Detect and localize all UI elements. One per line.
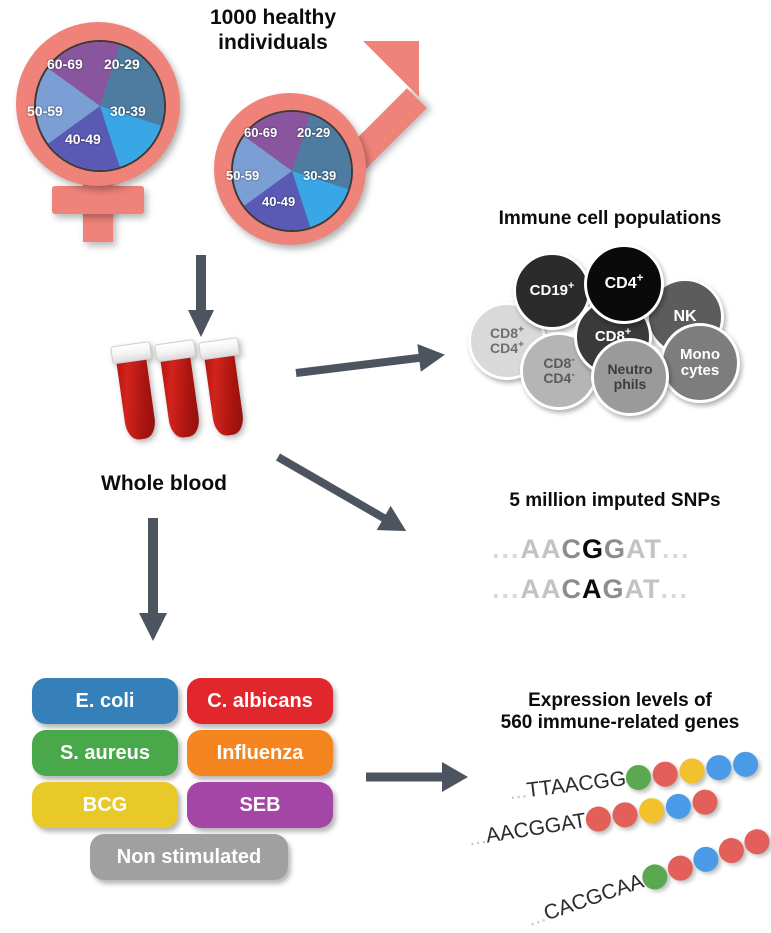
stimulation-chip-bcg[interactable]: BCG <box>32 782 178 828</box>
expression-title-line1: Expression levels of <box>470 690 770 712</box>
blood-tube <box>158 340 200 429</box>
snp-ellipsis-left: ... <box>492 574 521 604</box>
pie-label-50-59: 50-59 <box>27 103 63 119</box>
pie-label-20-29: 20-29 <box>104 56 140 72</box>
strand-bead <box>624 764 652 792</box>
cohort-title-line1: 1000 healthy <box>178 6 368 31</box>
snp-variant-allele: A <box>582 574 603 604</box>
strand-bead <box>690 843 722 875</box>
snp-ellipsis-right: ... <box>661 574 690 604</box>
pie-label-60-69: 60-69 <box>47 56 83 72</box>
pie-label-20-29: 20-29 <box>297 125 330 140</box>
snps-title: 5 million imputed SNPs <box>470 490 760 512</box>
expression-title-line2: 560 immune-related genes <box>470 712 770 734</box>
pie-label-50-59: 50-59 <box>226 168 259 183</box>
pie-label-40-49: 40-49 <box>65 131 101 147</box>
male-symbol: 20-29 30-39 40-49 50-59 60-69 <box>200 38 430 248</box>
whole-blood-label: Whole blood <box>84 472 244 497</box>
chip-label: Non stimulated <box>117 846 261 869</box>
stimulation-chip-influenza[interactable]: Influenza <box>187 730 333 776</box>
strand-sequence: CACGCAA <box>541 870 647 926</box>
stimulation-chip-c-albicans[interactable]: C. albicans <box>187 678 333 724</box>
strand-sequence-label: ...AACGGAT <box>467 809 588 851</box>
immune-cell-neutrophils: Neutrophils <box>591 338 669 416</box>
chip-label: E. coli <box>76 690 135 713</box>
arrow-cohort-to-blood <box>196 255 206 337</box>
snp-sequence-row: ...AACAGAT... <box>492 574 689 605</box>
immune-cell-monocytes: Monocytes <box>660 323 740 403</box>
immune-cell-cd4p: CD4+ <box>584 244 664 324</box>
strand-bead <box>732 750 760 778</box>
blood-tube <box>202 338 244 427</box>
expression-title: Expression levels of 560 immune-related … <box>470 690 770 735</box>
pie-label-40-49: 40-49 <box>262 194 295 209</box>
immune-title: Immune cell populations <box>460 208 760 230</box>
arrow-blood-to-immune <box>295 350 447 378</box>
stimulation-chip-s-aureus[interactable]: S. aureus <box>32 730 178 776</box>
immune-cells-group: CD8+CD4+ CD19+ CD4+ NK CD8+ CD8-CD4- Neu… <box>460 240 760 410</box>
strand-sequence: AACGGAT <box>484 809 587 848</box>
snp-sequences-group: ...AACGGAT... ...AACAGAT... <box>478 530 758 620</box>
stimulation-group: E. coli C. albicans S. aureus Influenza … <box>32 678 352 898</box>
chip-label: BCG <box>83 794 127 817</box>
arrow-blood-to-snps <box>276 453 420 542</box>
strand-bead <box>705 754 733 782</box>
chip-label: C. albicans <box>207 690 313 713</box>
immune-cell-label: CD4+ <box>605 276 644 293</box>
snp-ellipsis-left: ... <box>492 534 521 564</box>
immune-cell-label: Neutrophils <box>607 362 652 391</box>
female-stem-cross <box>52 186 144 214</box>
strand-bead <box>664 852 696 884</box>
immune-cell-label: CD8+CD4+ <box>490 326 524 355</box>
strand-bead <box>664 792 693 821</box>
blood-tubes-group <box>110 340 260 450</box>
stimulation-chip-non-stimulated[interactable]: Non stimulated <box>90 834 288 880</box>
strand-sequence-label: ...TTAACGG <box>508 767 628 805</box>
immune-cell-label: Monocytes <box>680 347 720 378</box>
pie-label-60-69: 60-69 <box>244 125 277 140</box>
strand-bead <box>637 796 666 825</box>
immune-cell-label: CD19+ <box>530 283 575 299</box>
strand-bead <box>584 805 613 834</box>
pie-label-30-39: 30-39 <box>303 168 336 183</box>
stimulation-chip-e-coli[interactable]: E. coli <box>32 678 178 724</box>
strand-bead <box>651 760 679 788</box>
strand-sequence: TTAACGG <box>525 767 627 802</box>
immune-cell-label: CD8-CD4- <box>543 356 574 385</box>
female-symbol: 20-29 30-39 40-49 50-59 60-69 <box>8 14 188 244</box>
chip-label: SEB <box>239 794 280 817</box>
strand-bead <box>611 801 640 830</box>
strand-bead <box>678 757 706 785</box>
stimulation-chip-seb[interactable]: SEB <box>187 782 333 828</box>
pie-label-30-39: 30-39 <box>110 103 146 119</box>
expression-strand: ...CACGCAA <box>639 820 771 893</box>
blood-tube <box>114 342 156 431</box>
expression-strands-group: ...TTAACGG ...AACGGAT ...CACGCAA <box>440 740 771 920</box>
strand-sequence-label: ...CACGCAA <box>524 870 647 932</box>
strand-bead <box>741 826 771 858</box>
strand-bead <box>691 788 720 817</box>
arrow-blood-to-stimulation <box>148 518 158 642</box>
strand-bead <box>716 835 748 867</box>
snp-sequence-row: ...AACGGAT... <box>492 534 691 565</box>
chip-label: Influenza <box>217 742 304 765</box>
chip-label: S. aureus <box>60 742 150 765</box>
male-arrow-head <box>363 41 419 97</box>
snp-variant-allele: G <box>582 534 604 564</box>
snp-ellipsis-right: ... <box>662 534 691 564</box>
